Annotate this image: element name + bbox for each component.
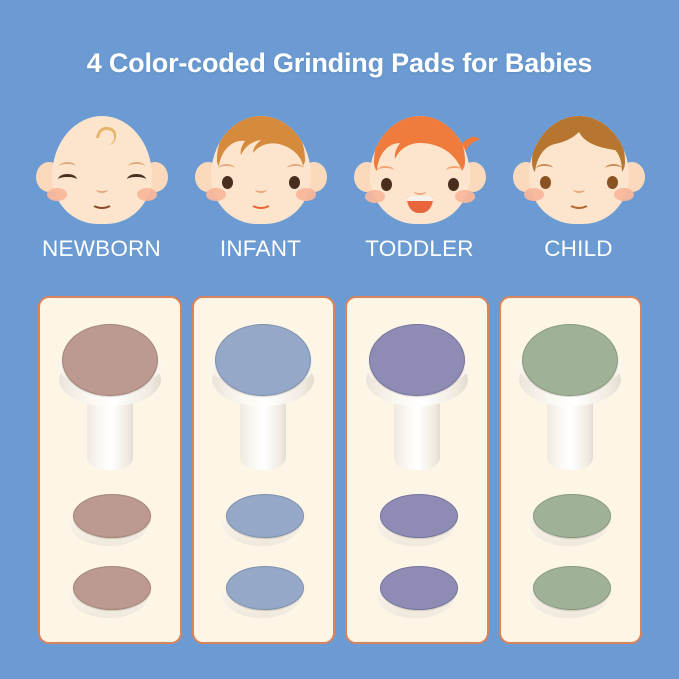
eye-left — [540, 176, 551, 189]
nose — [96, 186, 108, 193]
grinding-pad-slot-2 — [70, 566, 150, 622]
eye-right — [127, 174, 146, 185]
cheek-left — [47, 188, 67, 201]
cheek-left — [524, 188, 544, 201]
grinding-pad-small[interactable] — [380, 494, 458, 538]
grinding-pad-small[interactable] — [73, 494, 151, 538]
eye-left — [222, 176, 233, 189]
grinding-pad-slot-2 — [377, 566, 457, 622]
age-stage-infant[interactable]: INFANT — [181, 112, 340, 272]
grinding-pad-small[interactable] — [73, 566, 151, 610]
grinding-pad-card-child[interactable] — [499, 296, 643, 644]
nose — [573, 186, 585, 193]
eye-left — [381, 178, 392, 191]
age-stage-toddler[interactable]: TODDLER — [340, 112, 499, 272]
grinding-pad-small[interactable] — [226, 494, 304, 538]
eyebrow-left — [377, 166, 394, 175]
eyebrow-left — [536, 164, 553, 173]
eyebrow-right — [128, 162, 145, 171]
grinder-assembly — [518, 322, 622, 482]
grinding-pad-slot-1 — [377, 494, 457, 550]
eye-right — [607, 176, 618, 189]
baby-face-infant-icon — [194, 112, 328, 228]
eyebrow-right — [287, 164, 304, 173]
eyebrow-left — [59, 162, 76, 171]
grinding-pad-slot-1 — [530, 494, 610, 550]
grinding-pad-large[interactable] — [369, 324, 465, 396]
mouth — [250, 196, 272, 209]
mouth — [91, 196, 113, 209]
grinding-pad-large[interactable] — [215, 324, 311, 396]
grinding-pad-card-newborn[interactable] — [38, 296, 182, 644]
grinding-pad-small[interactable] — [380, 566, 458, 610]
eyebrow-left — [218, 164, 235, 173]
grinding-pad-card-row — [38, 296, 642, 644]
grinding-pad-card-infant[interactable] — [192, 296, 336, 644]
mouth — [568, 196, 590, 209]
eye-left — [58, 174, 77, 185]
eye-right — [448, 178, 459, 191]
cheek-right — [455, 190, 475, 203]
grinding-pad-large[interactable] — [62, 324, 158, 396]
grinder-assembly — [365, 322, 469, 482]
nose — [255, 186, 267, 193]
age-stage-child[interactable]: CHILD — [499, 112, 658, 272]
age-stage-label-child: CHILD — [499, 236, 658, 262]
grinding-pad-slot-1 — [70, 494, 150, 550]
grinding-pad-large[interactable] — [522, 324, 618, 396]
grinding-pad-slot-1 — [223, 494, 303, 550]
grinder-assembly — [211, 322, 315, 482]
page-title: 4 Color-coded Grinding Pads for Babies — [0, 48, 679, 79]
age-stage-label-toddler: TODDLER — [340, 236, 499, 262]
grinder-assembly — [58, 322, 162, 482]
eyebrow-right — [446, 166, 463, 175]
grinding-pad-small[interactable] — [226, 566, 304, 610]
grinding-pad-small[interactable] — [533, 566, 611, 610]
grinding-pad-card-toddler[interactable] — [345, 296, 489, 644]
eyebrow-right — [605, 164, 622, 173]
grinding-pad-slot-2 — [530, 566, 610, 622]
cheek-left — [365, 190, 385, 203]
baby-face-toddler-icon — [353, 112, 487, 228]
cheek-right — [137, 188, 157, 201]
cheek-left — [206, 188, 226, 201]
eye-right — [289, 176, 300, 189]
cheek-right — [296, 188, 316, 201]
age-stage-label-infant: INFANT — [181, 236, 340, 262]
baby-face-newborn-icon — [35, 112, 169, 228]
nose — [414, 188, 426, 195]
age-stage-label-newborn: NEWBORN — [22, 236, 181, 262]
grinding-pad-slot-2 — [223, 566, 303, 622]
age-stage-face-row: NEWBORN INFANT — [22, 112, 658, 272]
grinding-pad-small[interactable] — [533, 494, 611, 538]
baby-face-child-icon — [512, 112, 646, 228]
age-stage-newborn[interactable]: NEWBORN — [22, 112, 181, 272]
cheek-right — [614, 188, 634, 201]
